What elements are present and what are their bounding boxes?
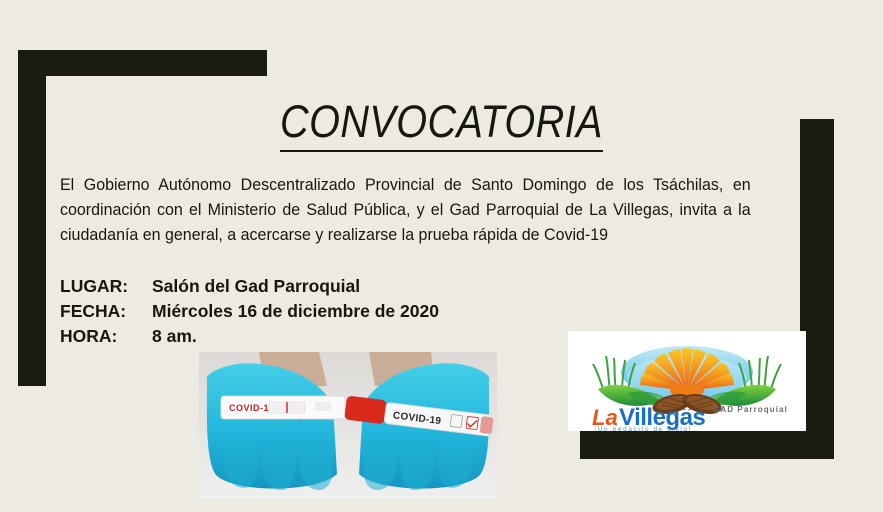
corner-bracket-top-left-horizontal [18,50,267,76]
svg-text:COVID-19: COVID-19 [229,403,275,413]
logo-la-villegas: GAD Parroquial La Villegas ¡Un pedacito … [568,331,806,431]
detail-value-lugar: Salón del Gad Parroquial [152,274,360,299]
corner-bracket-top-left-vertical [18,50,46,386]
logo-artwork: GAD Parroquial La Villegas ¡Un pedacito … [568,331,806,431]
svg-text:C: C [273,419,277,425]
page-title-text: CONVOCATORIA [280,96,603,152]
detail-label-lugar: LUGAR: [60,274,152,299]
detail-row: LUGAR:Salón del Gad Parroquial [60,274,580,299]
detail-label-fecha: FECHA: [60,299,152,324]
covid-test-illustration: COVID-19 C T COVID-19 [199,352,497,499]
detail-row: HORA:8 am. [60,324,580,349]
covid-test-photo: COVID-19 C T COVID-19 [199,352,497,499]
logo-top-text: GAD Parroquial [713,405,788,414]
detail-label-hora: HORA: [60,324,152,349]
detail-value-fecha: Miércoles 16 de diciembre de 2020 [152,299,439,324]
logo-tagline: ¡Un pedacito de cielo! [594,426,692,431]
svg-text:T: T [299,419,302,425]
corner-bracket-bottom-horizontal [580,431,834,459]
detail-row: FECHA:Miércoles 16 de diciembre de 2020 [60,299,580,324]
page-title: CONVOCATORIA [53,96,830,152]
poster-canvas: CONVOCATORIA El Gobierno Autónomo Descen… [0,0,883,512]
body-paragraph: El Gobierno Autónomo Descentralizado Pro… [60,173,751,248]
event-details: LUGAR:Salón del Gad Parroquial FECHA:Mié… [60,274,580,349]
detail-value-hora: 8 am. [152,324,197,349]
